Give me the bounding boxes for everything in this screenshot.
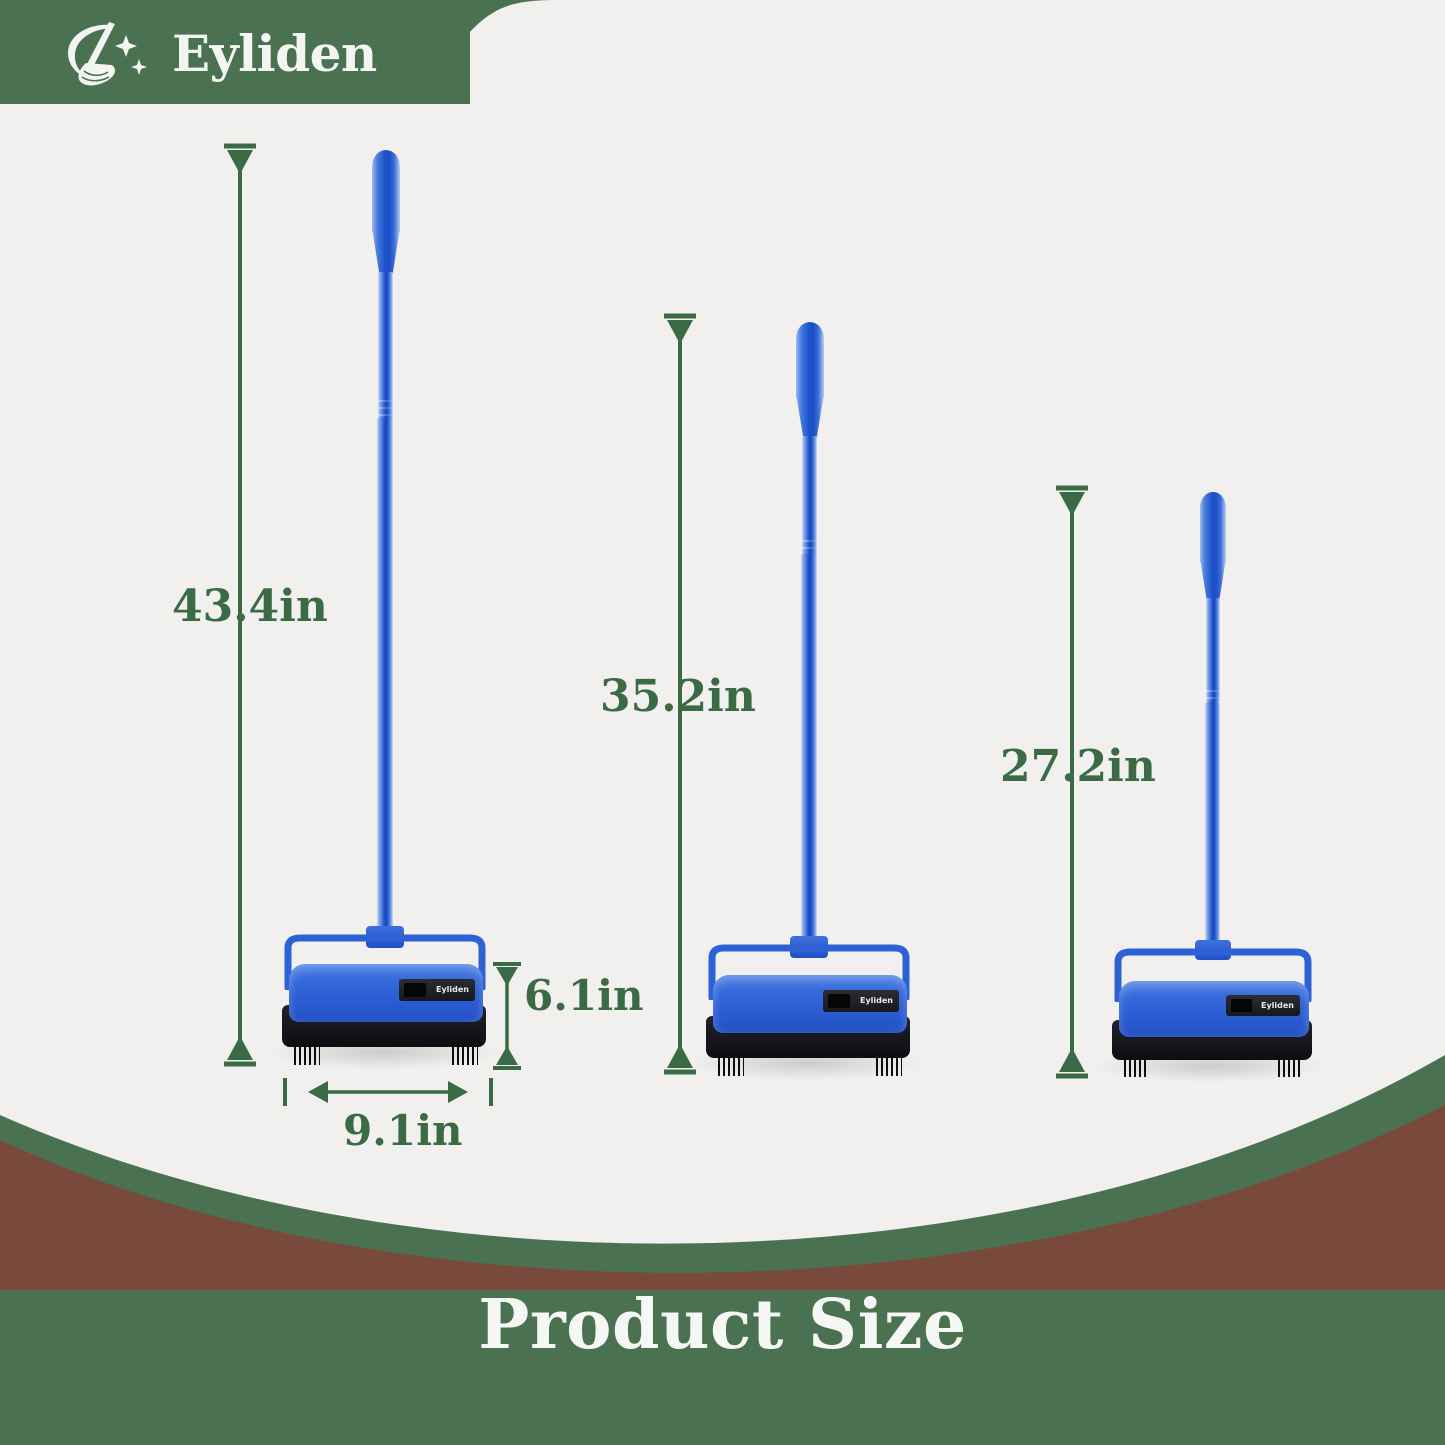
badge-label: Eyliden xyxy=(1261,1002,1300,1010)
handle-pole-upper xyxy=(802,436,817,556)
badge-label: Eyliden xyxy=(436,986,475,994)
bristle-tuft xyxy=(294,1043,320,1065)
handle-pole-lower xyxy=(801,554,817,946)
handle-pole-upper xyxy=(1206,598,1220,702)
handle-pole-lower xyxy=(377,418,393,938)
badge-window xyxy=(828,994,850,1008)
handle-grip-taper xyxy=(796,394,824,442)
page-title: Product Size xyxy=(0,1285,1445,1365)
badge-window xyxy=(404,983,426,997)
pole-joint-seam xyxy=(1206,697,1220,699)
product-sweeper-tall: Eyliden xyxy=(0,0,560,1100)
infographic-canvas: Eyliden xyxy=(0,0,1445,1445)
handle-grip xyxy=(1200,510,1226,562)
dimension-label-width-body: 9.1in xyxy=(343,1110,463,1152)
bristle-tuft xyxy=(452,1043,478,1065)
handle-grip xyxy=(372,170,400,232)
dimension-label-height-short: 27.2in xyxy=(1000,745,1156,789)
pole-joint-seam xyxy=(378,400,393,402)
pole-joint-seam xyxy=(378,407,393,409)
handle-grip-taper xyxy=(372,228,400,278)
brand-badge: Eyliden xyxy=(399,979,475,1001)
dimension-height-body xyxy=(487,960,527,1072)
badge-label: Eyliden xyxy=(860,997,899,1005)
dimension-label-height-medium: 35.2in xyxy=(600,675,756,719)
pole-joint-seam xyxy=(802,547,817,549)
pole-joint-seam xyxy=(378,414,393,416)
handle-grip-taper xyxy=(1200,558,1226,602)
handle-pole-upper xyxy=(378,272,393,420)
bristle-tuft xyxy=(876,1054,902,1076)
handle-pole-lower xyxy=(1205,702,1220,950)
brand-badge: Eyliden xyxy=(1226,995,1300,1016)
brand-badge: Eyliden xyxy=(823,990,899,1012)
pole-joint-seam xyxy=(1206,690,1220,692)
bristle-tuft xyxy=(718,1054,744,1076)
bristle-tuft xyxy=(1278,1056,1303,1077)
handle-grip xyxy=(796,342,824,398)
pole-joint-seam xyxy=(802,540,817,542)
bristle-tuft xyxy=(1124,1056,1149,1077)
dimension-label-height-tall: 43.4in xyxy=(172,585,328,629)
badge-window xyxy=(1231,999,1252,1012)
